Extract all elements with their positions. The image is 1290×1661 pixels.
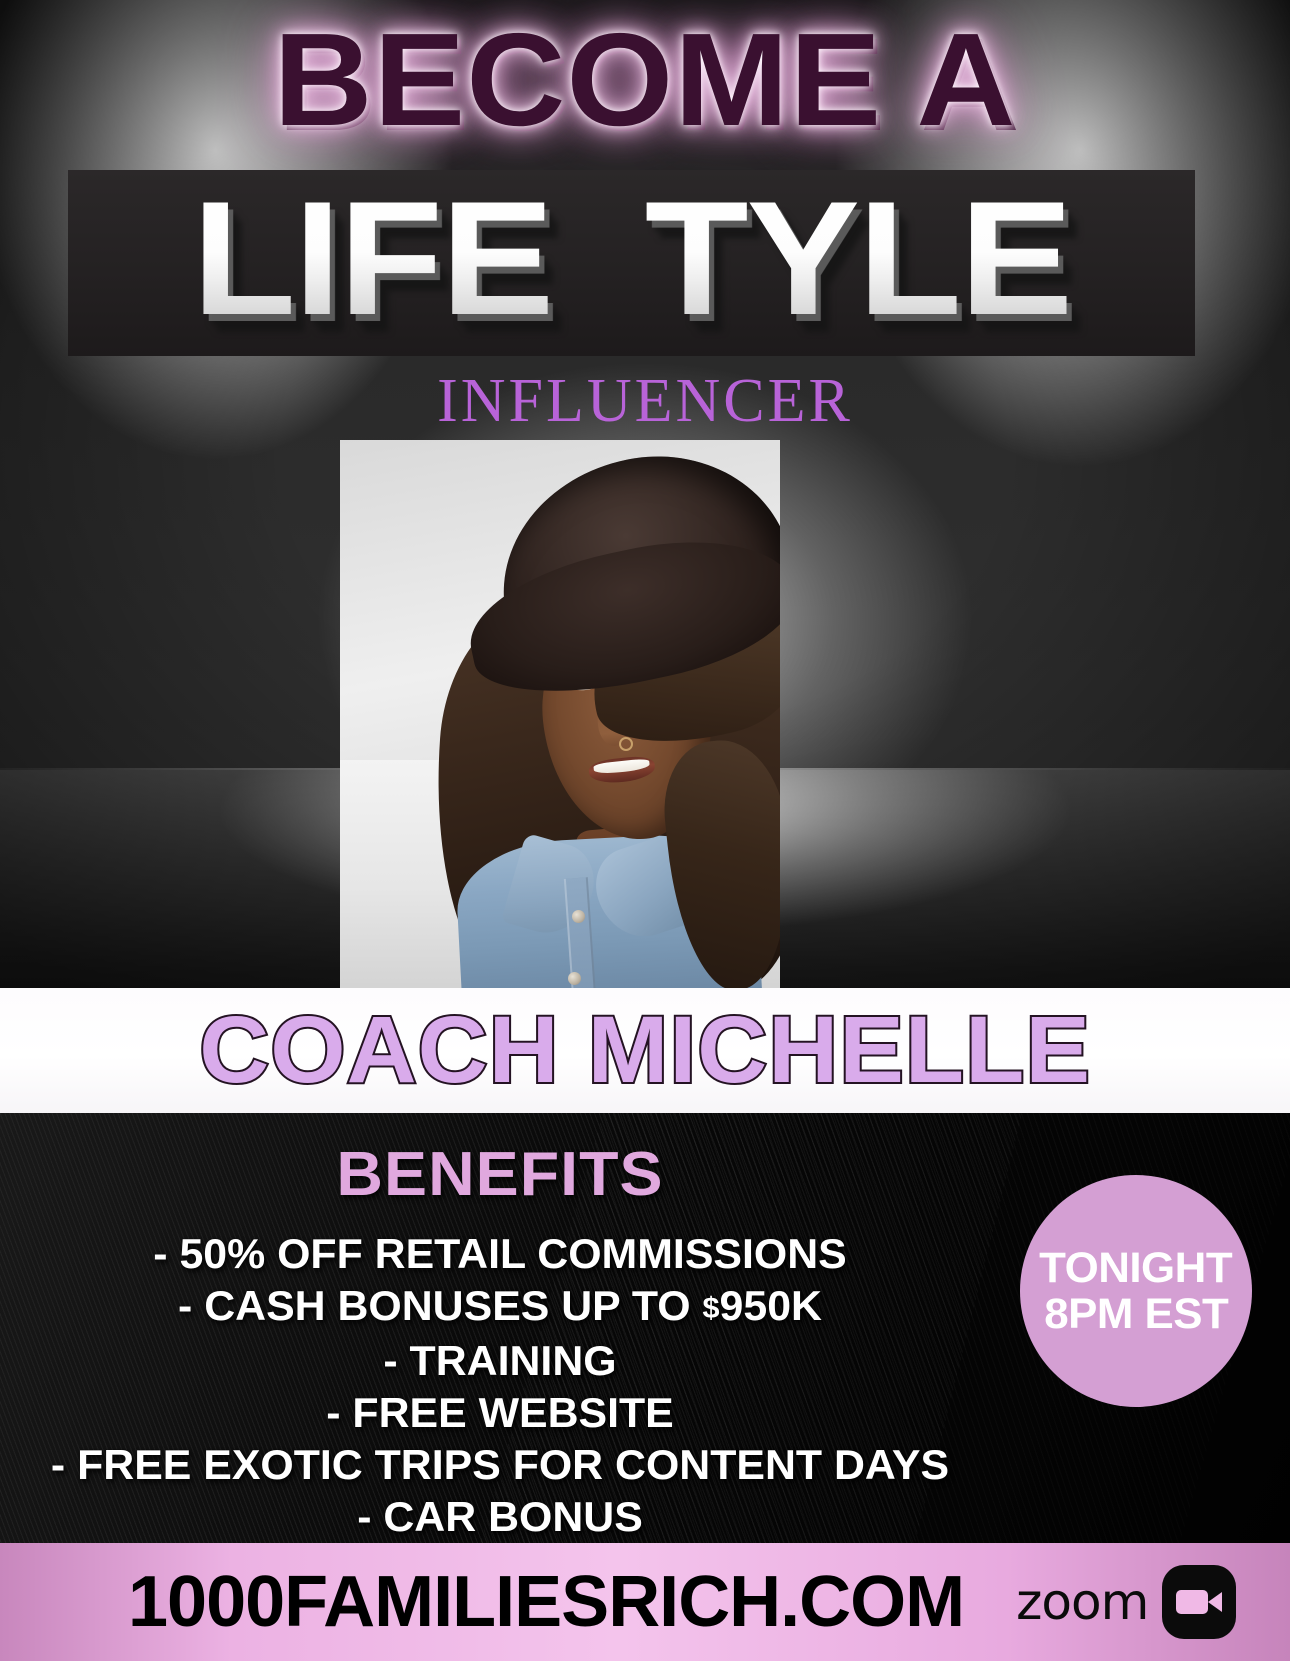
shirt-button-lower (568, 972, 581, 985)
dollar-sign-icon: $ (552, 167, 645, 355)
coach-name: COACH MICHELLE (199, 1003, 1091, 1098)
benefits-heading: BENEFITS (0, 1139, 1020, 1210)
lifestyle-suffix: TYLE (645, 168, 1071, 349)
benefit-item: - FREE EXOTIC TRIPS FOR CONTENT DAYS (0, 1439, 1010, 1491)
teeth (593, 758, 650, 775)
promotional-flyer: BECOME A LIFE$TYLE INFLUENCER COACH MICH… (0, 0, 1290, 1661)
benefit-item: - 50% OFF RETAIL COMMISSIONS (0, 1228, 1010, 1280)
coach-name-band: COACH MICHELLE (0, 988, 1290, 1113)
badge-line-tonight: TONIGHT (1039, 1245, 1232, 1291)
website-url[interactable]: 1000FAMILIESRICH.COM (128, 1561, 964, 1643)
footer-band: 1000FAMILIESRICH.COM zoom (0, 1543, 1290, 1661)
zoom-logo: zoom (1016, 1565, 1236, 1639)
video-camera-icon (1162, 1565, 1236, 1639)
camera-body (1176, 1590, 1208, 1614)
tonight-time-badge: TONIGHT 8PM EST (1020, 1175, 1252, 1407)
lifestyle-prefix: LIFE (192, 168, 552, 349)
benefit-item: - FREE WEBSITE (0, 1387, 1010, 1439)
benefit-item: - CASH BONUSES UP TO $950K (0, 1280, 1010, 1335)
headline-influencer: INFLUENCER (0, 366, 1290, 437)
benefit-item: - CAR BONUS (0, 1491, 1010, 1543)
badge-line-time: 8PM EST (1044, 1291, 1228, 1337)
camera-lens (1208, 1592, 1222, 1612)
shirt-button-upper (572, 910, 585, 923)
coach-portrait-photo (340, 440, 780, 992)
benefits-list: - 50% OFF RETAIL COMMISSIONS - CASH BONU… (0, 1228, 1000, 1543)
benefit-item: - TRAINING (0, 1335, 1010, 1387)
headline-become-a: BECOME A (0, 14, 1290, 146)
zoom-wordmark: zoom (1016, 1573, 1148, 1631)
lifestyle-word: LIFE$TYLE (192, 178, 1071, 340)
headline-lifestyle: LIFE$TYLE (68, 166, 1195, 352)
nose-ring-icon (619, 737, 633, 751)
